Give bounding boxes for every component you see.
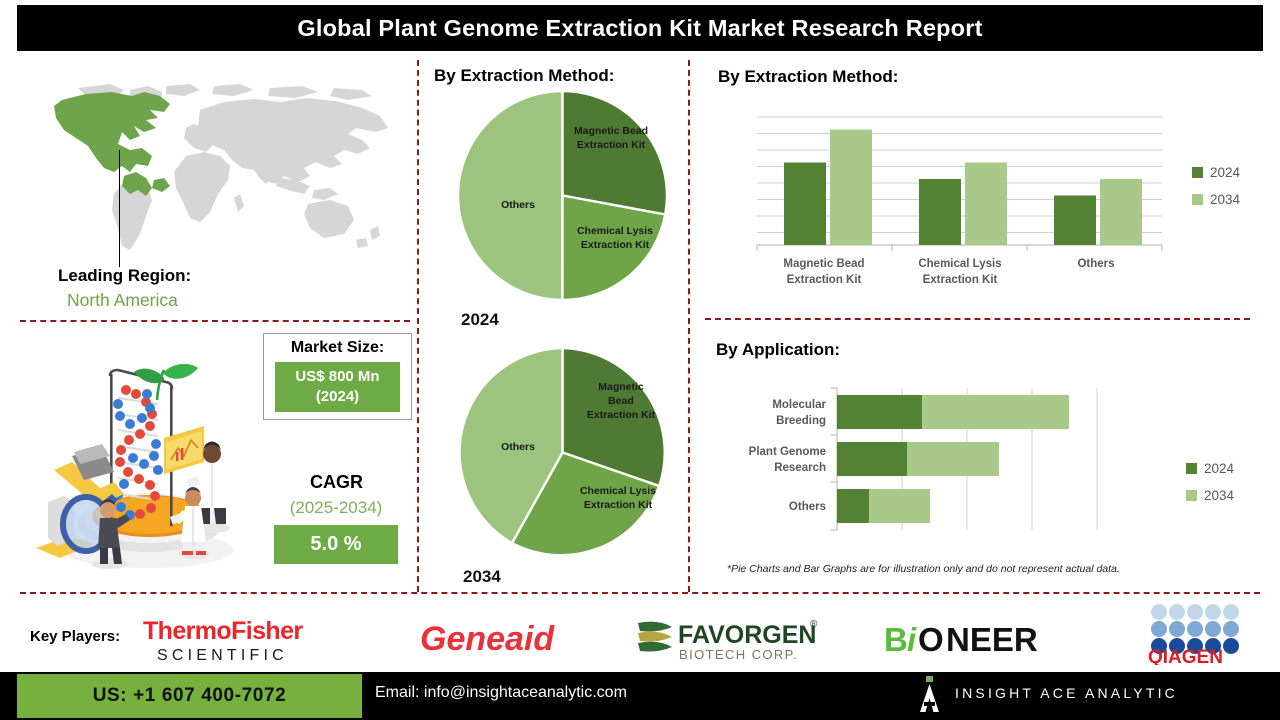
- svg-text:Research: Research: [774, 462, 826, 474]
- svg-text:SCIENTIFIC: SCIENTIFIC: [157, 647, 288, 664]
- legend-swatch-2024: [1186, 463, 1197, 474]
- divider-left-horizontal: [20, 320, 410, 322]
- leading-region-label: Leading Region:: [58, 266, 191, 286]
- legend-item-2024-app: 2024: [1186, 461, 1234, 476]
- pie-2024-label-others: Others: [468, 198, 568, 212]
- pie-2034-label-others: Others: [470, 440, 566, 454]
- footer-brand-name: INSIGHT ACE ANALYTIC: [955, 685, 1178, 701]
- svg-text:Others: Others: [789, 501, 826, 513]
- svg-text:NEER: NEER: [946, 621, 1038, 658]
- legend-swatch-2034: [1192, 194, 1203, 205]
- market-size-chip: US$ 800 Mn (2024): [275, 362, 400, 412]
- legend-label-2024: 2024: [1204, 461, 1234, 476]
- market-size-year: (2024): [316, 387, 359, 407]
- svg-text:ThermoFisher: ThermoFisher: [143, 617, 303, 645]
- svg-text:®: ®: [810, 619, 818, 630]
- logo-bioneer: B i O NEER: [884, 620, 1092, 660]
- lab-research-illustration: [18, 352, 266, 587]
- pie-2034-label-magnetic: Magnetic Bead Extraction Kit: [566, 380, 676, 423]
- chart-footnote: *Pie Charts and Bar Graphs are for illus…: [727, 563, 1120, 575]
- svg-text:Chemical Lysis: Chemical Lysis: [918, 258, 1001, 270]
- legend-label-2024: 2024: [1210, 165, 1240, 180]
- svg-text:Others: Others: [1077, 258, 1114, 270]
- pie-2034-label-chemical: Chemical Lysis Extraction Kit: [562, 484, 674, 512]
- svg-text:Extraction Kit: Extraction Kit: [787, 274, 862, 286]
- divider-left-middle: [417, 60, 419, 592]
- application-stacked-bar-chart: Molecular Breeding Plant Genome Research…: [712, 378, 1182, 558]
- cagr-value: 5.0 %: [274, 525, 398, 564]
- svg-text:FAVORGEN: FAVORGEN: [678, 621, 816, 649]
- svg-text:Geneaid: Geneaid: [420, 620, 555, 658]
- logo-thermo-fisher: ThermoFisher SCIENTIFIC: [143, 617, 335, 665]
- page-title: Global Plant Genome Extraction Kit Marke…: [297, 15, 982, 42]
- market-size-title: Market Size:: [264, 339, 411, 357]
- legend-swatch-2024: [1192, 167, 1203, 178]
- cagr-period: (2025-2034): [256, 498, 416, 518]
- svg-text:Molecular: Molecular: [772, 399, 826, 411]
- footer-phone: US: +1 607 400-7072: [93, 685, 287, 707]
- pie-2024-year: 2024: [461, 310, 499, 330]
- svg-text:O: O: [918, 621, 944, 658]
- svg-text:BIOTECH CORP.: BIOTECH CORP.: [679, 647, 798, 662]
- footer-phone-block: US: +1 607 400-7072: [17, 674, 362, 718]
- svg-text:B: B: [884, 621, 908, 658]
- legend-swatch-2034: [1186, 490, 1197, 501]
- footer-email[interactable]: Email: info@insightaceanalytic.com: [375, 684, 627, 702]
- legend-item-2034: 2034: [1192, 192, 1240, 207]
- application-chart-legend: 2024 2034: [1186, 461, 1234, 515]
- svg-text:Plant Genome: Plant Genome: [749, 446, 826, 458]
- insight-ace-logo-icon: [915, 676, 945, 714]
- divider-bottom-horizontal: [20, 592, 1260, 594]
- report-title-bar: Global Plant Genome Extraction Kit Marke…: [17, 5, 1263, 51]
- logo-qiagen: QIAGEN: [1148, 603, 1246, 665]
- svg-text:i: i: [907, 621, 917, 658]
- application-heading: By Application:: [716, 340, 840, 360]
- key-players-label: Key Players:: [30, 628, 120, 645]
- legend-item-2034-app: 2034: [1186, 488, 1234, 503]
- svg-text:Magnetic Bead: Magnetic Bead: [783, 258, 864, 270]
- map-pointer-line: [119, 150, 120, 267]
- legend-item-2024: 2024: [1192, 165, 1240, 180]
- svg-text:Extraction Kit: Extraction Kit: [923, 274, 998, 286]
- pie-2024-heading: By Extraction Method:: [434, 66, 614, 86]
- logo-geneaid: Geneaid: [418, 619, 608, 659]
- legend-label-2034: 2034: [1204, 488, 1234, 503]
- svg-text:Breeding: Breeding: [776, 415, 826, 427]
- extraction-method-bar-chart: Magnetic Bead Extraction Kit Chemical Ly…: [712, 105, 1182, 305]
- market-size-value: US$ 800 Mn: [295, 367, 379, 387]
- logo-favorgen: FAVORGEN ® BIOTECH CORP.: [632, 617, 828, 663]
- pie-2024-label-chemical: Chemical Lysis Extraction Kit: [560, 224, 670, 252]
- svg-text:QIAGEN: QIAGEN: [1148, 647, 1223, 665]
- pie-chart-2024: [455, 88, 670, 303]
- divider-right-horizontal: [705, 318, 1250, 320]
- bar-chart-legend: 2024 2034: [1192, 165, 1240, 219]
- divider-middle-right: [688, 60, 690, 592]
- market-size-box: Market Size: US$ 800 Mn (2024): [263, 333, 412, 420]
- pie-2024-label-magnetic: Magnetic Bead Extraction Kit: [556, 124, 666, 152]
- cagr-title: CAGR: [263, 472, 410, 493]
- infographic-page: Global Plant Genome Extraction Kit Marke…: [0, 0, 1280, 720]
- legend-label-2034: 2034: [1210, 192, 1240, 207]
- bar-chart-heading: By Extraction Method:: [718, 67, 898, 87]
- leading-region-value: North America: [67, 290, 178, 311]
- pie-2034-year: 2034: [463, 567, 501, 587]
- world-map: [18, 72, 400, 272]
